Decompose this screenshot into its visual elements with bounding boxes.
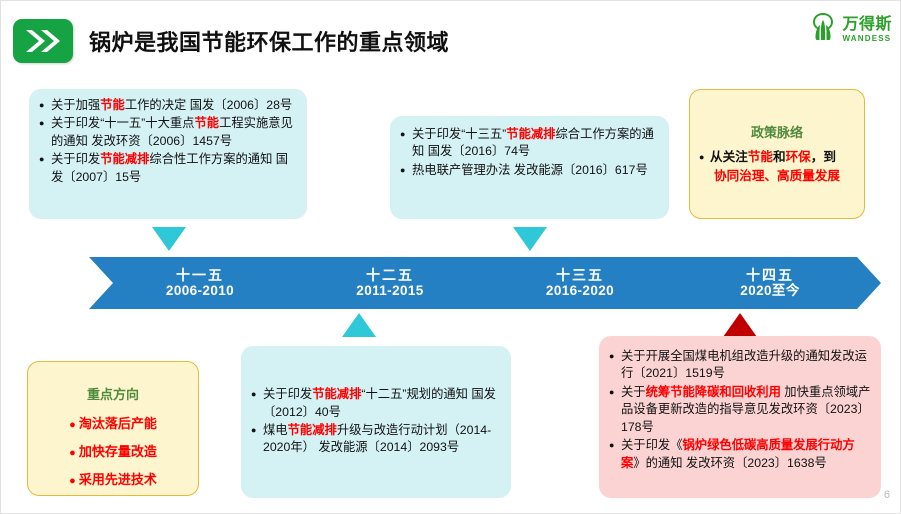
focus-item: ●加快存量改造 [38, 441, 188, 460]
policy-card-title: 政策脉络 [699, 122, 855, 141]
connector-triangle-down-11th [152, 227, 186, 251]
wandess-leaf-logo-icon [808, 11, 838, 48]
list-item: 煤电节能减排升级与改造行动计划（2014-2020年） 发改能源〔2014〕20… [251, 422, 501, 457]
double-chevron-right-icon [23, 28, 63, 54]
bullet-dot-icon: ● [69, 419, 76, 431]
connector-triangle-up-12th [342, 313, 376, 337]
list-item: 关于印发“十三五”节能减排综合工作方案的通知 国发〔2016〕74号 [400, 126, 659, 161]
bullet-dot-icon: ● [69, 475, 76, 487]
connector-triangle-down-13th [513, 227, 547, 251]
timeline-bar: 十一五 2006-2010 十二五 2011-2015 十三五 2016-202… [1, 257, 901, 309]
logo-text-en: WANDESS [842, 35, 892, 43]
phase-range: 2006-2010 [166, 283, 234, 299]
card-13th-list: 关于印发“十三五”节能减排综合工作方案的通知 国发〔2016〕74号 热电联产管… [400, 126, 659, 179]
list-item: 关于统筹节能降碳和回收利用 加快重点领域产品设备更新改造的指导意见发改环资〔20… [609, 384, 871, 436]
slide-canvas: 锅炉是我国节能环保工作的重点领域 万得斯 WANDESS 关于加强节能工作的决定… [0, 0, 901, 514]
connector-triangle-up-14th [723, 313, 757, 337]
card-policy-context: 政策脉络 从关注节能和环保，到 协同治理、高质量发展 [689, 89, 865, 219]
list-item: 关于印发节能减排“十二五”规划的通知 国发〔2012〕40号 [251, 386, 501, 421]
policy-card-line-2: 协同治理、高质量发展 [699, 167, 855, 186]
list-item: 关于印发节能减排综合性工作方案的通知 国发〔2007〕15号 [39, 151, 297, 186]
list-item: 关于印发《锅炉绿色低碳高质量发展行动方案》的通知 发改环资〔2023〕1638号 [609, 437, 871, 472]
brand-logo: 万得斯 WANDESS [808, 11, 892, 48]
focus-item: ●采用先进技术 [38, 469, 188, 488]
phase-range: 2020至今 [740, 283, 799, 299]
card-14th-list: 关于开展全国煤电机组改造升级的通知发改运行〔2021〕1519号 关于统筹节能降… [609, 348, 871, 472]
card-11th-list: 关于加强节能工作的决定 国发〔2006〕28号 关于印发“十一五”十大重点节能工… [39, 97, 297, 186]
logo-text-cn: 万得斯 [842, 17, 892, 33]
timeline-phase-11th[interactable]: 十一五 2006-2010 [89, 257, 311, 309]
timeline-phase-12th[interactable]: 十二五 2011-2015 [279, 257, 501, 309]
card-key-directions: 重点方向 ●淘汰落后产能 ●加快存量改造 ●采用先进技术 [27, 361, 199, 496]
list-item: 关于印发“十一五”十大重点节能工程实施意见的通知 发改环资〔2006〕1457号 [39, 115, 297, 150]
card-12th-list: 关于印发节能减排“十二五”规划的通知 国发〔2012〕40号 煤电节能减排升级与… [251, 386, 501, 458]
page-title: 锅炉是我国节能环保工作的重点领域 [89, 25, 449, 57]
bullet-dot-icon: ● [69, 447, 76, 459]
header-badge [13, 19, 73, 63]
phase-range: 2016-2020 [546, 283, 614, 299]
page-number: 6 [884, 489, 890, 501]
card-13th-five-year: 关于印发“十三五”节能减排综合工作方案的通知 国发〔2016〕74号 热电联产管… [390, 116, 669, 219]
phase-name: 十三五 [556, 267, 604, 283]
focus-item: ●淘汰落后产能 [38, 413, 188, 432]
list-item: 关于开展全国煤电机组改造升级的通知发改运行〔2021〕1519号 [609, 348, 871, 383]
list-item: 关于加强节能工作的决定 国发〔2006〕28号 [39, 97, 297, 114]
focus-card-title: 重点方向 [38, 384, 188, 403]
timeline-phase-14th[interactable]: 十四五 2020至今 [659, 257, 881, 309]
phase-name: 十二五 [366, 267, 414, 283]
phase-name: 十四五 [746, 267, 794, 283]
card-12th-five-year: 关于印发节能减排“十二五”规划的通知 国发〔2012〕40号 煤电节能减排升级与… [241, 346, 511, 498]
card-14th-five-year: 关于开展全国煤电机组改造升级的通知发改运行〔2021〕1519号 关于统筹节能降… [599, 336, 881, 498]
phase-name: 十一五 [176, 267, 224, 283]
card-11th-five-year: 关于加强节能工作的决定 国发〔2006〕28号 关于印发“十一五”十大重点节能工… [29, 89, 307, 219]
timeline-phase-13th[interactable]: 十三五 2016-2020 [469, 257, 691, 309]
phase-range: 2011-2015 [356, 283, 423, 299]
policy-card-line-1: 从关注节能和环保，到 [699, 148, 855, 167]
list-item: 热电联产管理办法 发改能源〔2016〕617号 [400, 162, 659, 179]
